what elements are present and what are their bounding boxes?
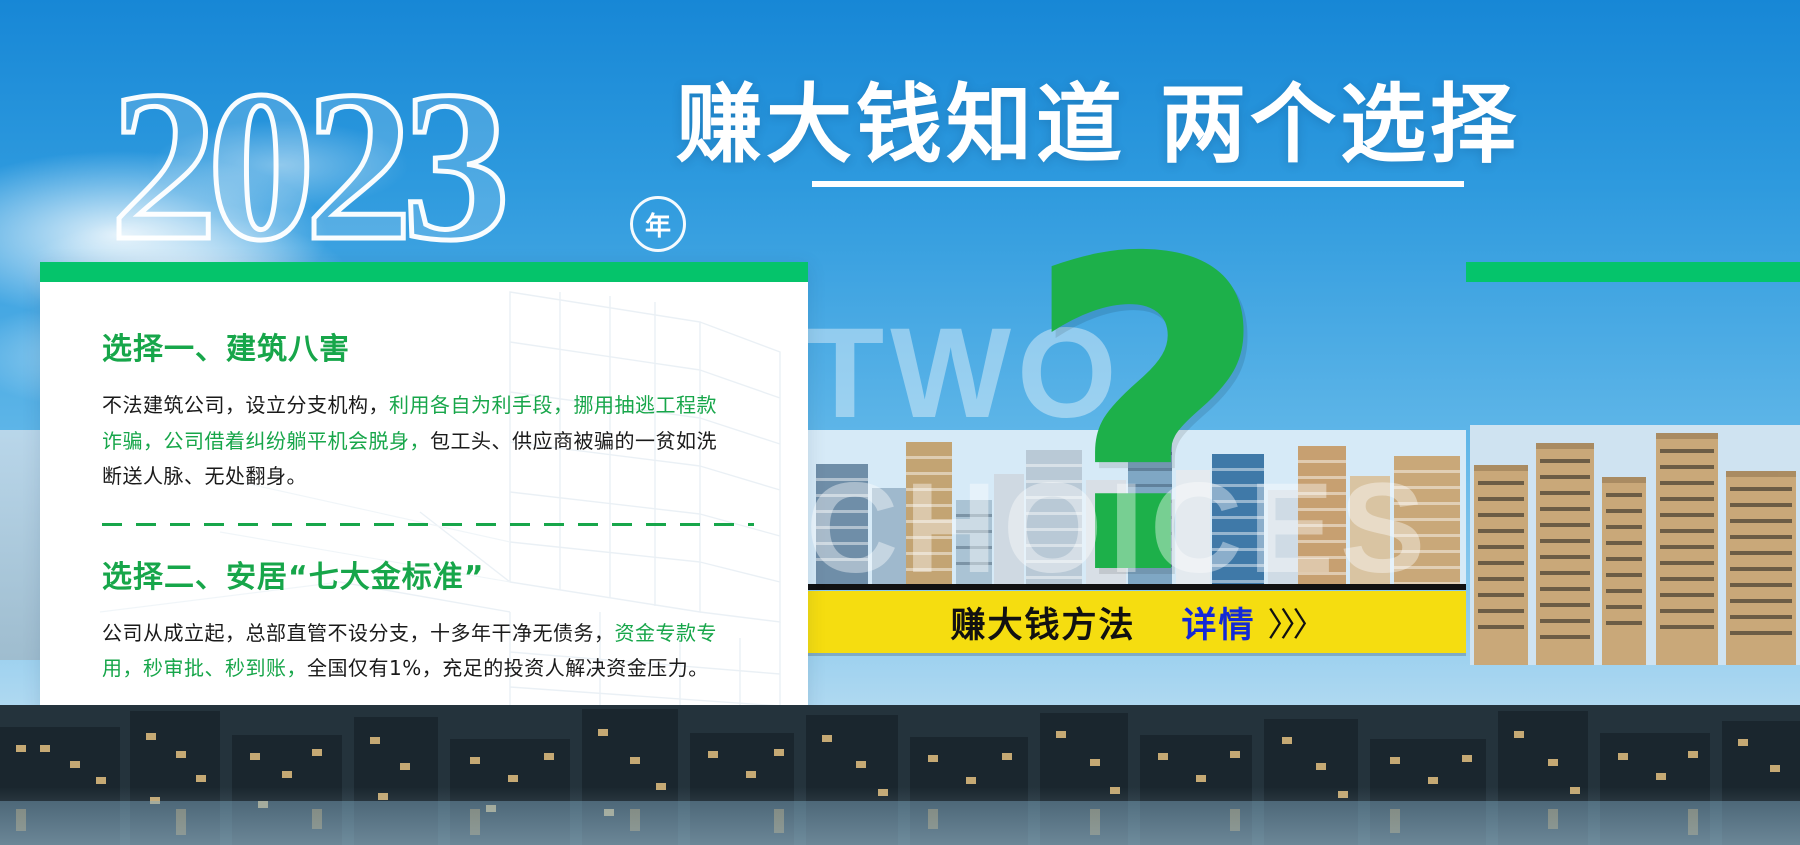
card-section-2: 选择二、安居“七大金标准” 公司从成立起，总部直管不设分支，十多年干净无债务，资… [102, 552, 754, 687]
section-1-line-2: 诈骗，公司借着纠纷躺平机会脱身，包工头、供应商被骗的一贫如洗 [102, 424, 754, 460]
year-unit-badge: 年 [630, 196, 686, 252]
bottom-photo-band [0, 705, 1800, 845]
text-run: 断送人脉、无处翻身。 [102, 464, 307, 488]
section-1-title: 选择一、建筑八害 [102, 324, 754, 368]
cta-main-label: 赚大钱方法 [950, 597, 1135, 648]
ghost-text-choices-overlay: CHOICES [806, 455, 1431, 602]
text-run-highlight: 利用各自为利手段，挪用抽逃工程款 [389, 393, 717, 417]
water-reflection [0, 787, 1800, 845]
text-run: 包工头、供应商被骗的一贫如洗 [430, 429, 717, 453]
text-run-highlight: 用，秒审批、秒到账， [102, 656, 307, 680]
card-section-1: 选择一、建筑八害 不法建筑公司，设立分支机构，利用各自为利手段，挪用抽逃工程款 … [102, 324, 754, 495]
section-1-line-3: 断送人脉、无处翻身。 [102, 459, 754, 495]
city-right-svg [1470, 425, 1800, 665]
text-run: 公司从成立起，总部直管不设分支，十多年干净无债务， [102, 621, 615, 645]
city-photo-right [1470, 425, 1800, 665]
text-run-highlight: 诈骗，公司借着纠纷躺平机会脱身， [102, 429, 430, 453]
cta-detail-label: 详情 [1182, 597, 1256, 648]
chevron-right-icon: 〉〉〉 [1268, 598, 1322, 646]
promo-banner: 2023 2023 年 赚大钱知道 两个选择 TWO CHOICES [0, 0, 1800, 845]
year-number-outline: 2023 [110, 58, 500, 273]
green-accent-bar [1466, 262, 1800, 282]
section-2-body: 公司从成立起，总部直管不设分支，十多年干净无债务，资金专款专 用，秒审批、秒到账… [102, 616, 754, 687]
page-title: 赚大钱知道 两个选择 [676, 78, 1520, 173]
text-run-highlight: 资金专款专 [615, 621, 718, 645]
section-1-body: 不法建筑公司，设立分支机构，利用各自为利手段，挪用抽逃工程款 诈骗，公司借着纠纷… [102, 388, 754, 495]
content-card: 选择一、建筑八害 不法建筑公司，设立分支机构，利用各自为利手段，挪用抽逃工程款 … [40, 262, 808, 717]
text-run: 全国仅有1%，充足的投资人解决资金压力。 [307, 656, 709, 680]
section-divider [102, 523, 754, 526]
cta-detail-group[interactable]: 详情 〉〉〉 [1182, 597, 1322, 648]
bridge-decoration [0, 430, 42, 660]
section-2-line-2: 用，秒审批、秒到账，全国仅有1%，充足的投资人解决资金压力。 [102, 651, 754, 687]
section-2-title: 选择二、安居“七大金标准” [102, 552, 754, 596]
section-1-line-1: 不法建筑公司，设立分支机构，利用各自为利手段，挪用抽逃工程款 [102, 388, 754, 424]
text-run: 不法建筑公司，设立分支机构， [102, 393, 389, 417]
section-2-line-1: 公司从成立起，总部直管不设分支，十多年干净无债务，资金专款专 [102, 616, 754, 652]
card-body: 选择一、建筑八害 不法建筑公司，设立分支机构，利用各自为利手段，挪用抽逃工程款 … [40, 282, 808, 687]
